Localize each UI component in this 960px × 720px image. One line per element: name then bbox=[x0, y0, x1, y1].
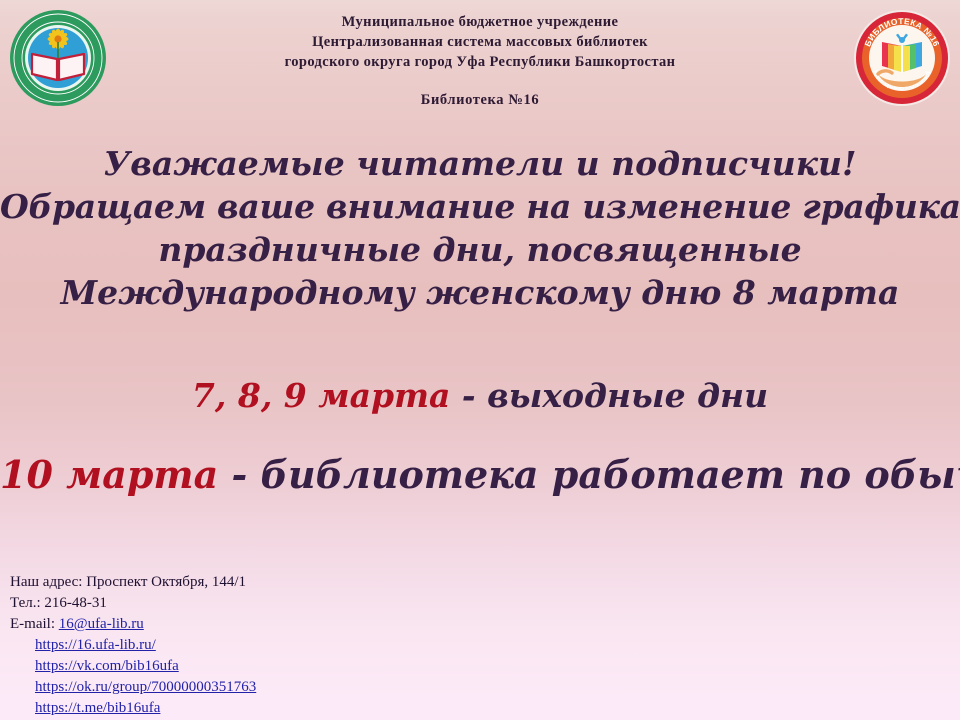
institution-header: Муниципальное бюджетное учреждение Центр… bbox=[0, 12, 960, 109]
holiday-dates-note: - выходные дни bbox=[450, 376, 768, 415]
schedule-line-holidays: 7, 8, 9 марта - выходные дни bbox=[0, 376, 960, 415]
announcement-line-4: Международному женскому дню 8 марта bbox=[0, 274, 960, 313]
link-row: https://16.ufa-lib.ru/ bbox=[35, 635, 256, 656]
website-link[interactable]: https://16.ufa-lib.ru/ bbox=[35, 637, 156, 653]
social-links-list: https://16.ufa-lib.ru/ https://vk.com/bi… bbox=[35, 635, 256, 719]
mbu-csmb-ufa-emblem-icon bbox=[8, 8, 108, 108]
link-row: https://ok.ru/group/70000000351763 bbox=[35, 677, 256, 698]
vk-link[interactable]: https://vk.com/bib16ufa bbox=[35, 658, 179, 674]
address-label: Наш адрес: bbox=[10, 574, 82, 590]
normal-date-note: - библиотека работает по обычному график… bbox=[218, 452, 960, 497]
address-value: Проспект Октября, 144/1 bbox=[86, 574, 246, 590]
phone-value: 216-48-31 bbox=[44, 595, 107, 611]
ok-link[interactable]: https://ok.ru/group/70000000351763 bbox=[35, 679, 256, 695]
branch-name: Библиотека №16 bbox=[0, 92, 960, 109]
announcement-line-1: Уважаемые читатели и подписчики! bbox=[0, 145, 960, 184]
schedule-line-normal: 10 марта - библиотека работает по обычно… bbox=[0, 452, 960, 497]
announcement-line-2: Обращаем ваше внимание на изменение граф… bbox=[0, 188, 960, 227]
announcement-poster: БИБЛИОТЕКА №16 МБУ ЦСМБ ГО Г.УФА bbox=[0, 0, 960, 720]
email-link[interactable]: 16@ufa-lib.ru bbox=[59, 616, 144, 632]
link-row: https://t.me/bib16ufa bbox=[35, 698, 256, 719]
normal-date: 10 марта bbox=[0, 452, 218, 497]
announcement-text: Уважаемые читатели и подписчики! Обращае… bbox=[0, 145, 960, 313]
email-label: E-mail: bbox=[10, 616, 55, 632]
address-row: Наш адрес: Проспект Октября, 144/1 bbox=[10, 572, 256, 593]
org-line-3: городского округа город Уфа Республики Б… bbox=[0, 52, 960, 72]
link-row: https://vk.com/bib16ufa bbox=[35, 656, 256, 677]
email-row: E-mail: 16@ufa-lib.ru bbox=[10, 614, 256, 635]
telegram-link[interactable]: https://t.me/bib16ufa bbox=[35, 700, 160, 716]
phone-label: Тел.: bbox=[10, 595, 41, 611]
holiday-dates: 7, 8, 9 марта bbox=[192, 376, 450, 415]
phone-row: Тел.: 216-48-31 bbox=[10, 593, 256, 614]
announcement-line-3: праздничные дни, посвященные bbox=[0, 231, 960, 270]
org-line-1: Муниципальное бюджетное учреждение bbox=[0, 12, 960, 32]
library-16-emblem-icon: БИБЛИОТЕКА №16 МБУ ЦСМБ ГО Г.УФА bbox=[852, 8, 952, 108]
org-line-2: Централизованная система массовых библио… bbox=[0, 32, 960, 52]
contact-block: Наш адрес: Проспект Октября, 144/1 Тел.:… bbox=[10, 572, 256, 719]
